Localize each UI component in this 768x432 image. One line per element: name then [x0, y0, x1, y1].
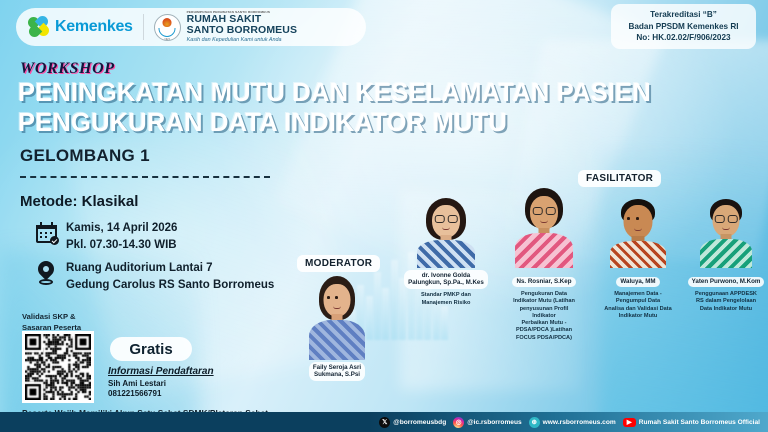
accreditation-line2: Badan PPSDM Kemenkes RI — [615, 21, 752, 33]
dashed-divider — [20, 176, 270, 178]
facilitator-1-topic: Standar PMKP danManajemen Risiko — [398, 292, 494, 307]
kemenkes-label: Kemenkes — [55, 18, 133, 36]
datetime-row: Kamis, 14 April 2026 Pkl. 07.30-14.30 WI… — [36, 220, 177, 253]
instagram-icon: ◎ — [453, 417, 464, 428]
facilitator-badge: FASILITATOR — [578, 170, 661, 187]
person-facilitator-2: Ns. Rosniar, S.Kep Pengukuran DataIndika… — [496, 186, 592, 342]
youtube-channel: Rumah Sakit Santo Borromeus Official — [639, 419, 760, 426]
person-facilitator-1: dr. Ivonne GoldaPalungkun, Sp.Pa., M.Kes… — [398, 196, 494, 307]
footer-x[interactable]: 𝕏 @borromeusbdg — [379, 417, 446, 428]
facilitator-2-topic: Pengukuran DataIndikator Mutu (Latihanpe… — [496, 291, 592, 342]
instagram-handle: @ic.rsborromeus — [467, 419, 521, 426]
hospital-seal-icon: 1921 — [154, 14, 181, 41]
venue-row: Ruang Auditorium Lantai 7 Gedung Carolus… — [36, 260, 274, 293]
qr-caption: Validasi SKP & Sasaran Peserta — [22, 311, 81, 333]
venue-line2: Gedung Carolus RS Santo Borromeus — [66, 277, 274, 294]
logo-bar: Kemenkes 1921 PERHIMPUNAN PERAWATAN SANT… — [16, 8, 366, 46]
facilitator-3-photo — [609, 196, 667, 268]
workshop-kicker: WORKSHOP — [20, 60, 115, 78]
accreditation-line1: Terakreditasi “B” — [615, 9, 752, 21]
facilitator-1-photo — [416, 196, 476, 268]
facilitator-4-photo — [699, 196, 753, 268]
method-label: Metode: Klasikal — [20, 193, 138, 210]
price-badge: Gratis — [110, 337, 192, 361]
facilitator-2-photo — [514, 186, 574, 268]
globe-icon: ⊕ — [529, 417, 540, 428]
facilitator-4-name: Yaten Purwono, M.Kom — [688, 277, 765, 288]
facilitator-4-topic: Penggunaan APPDESKRS dalam PengelolaanDa… — [684, 291, 768, 313]
facilitator-2-name: Ns. Rosniar, S.Kep — [512, 277, 575, 288]
x-icon: 𝕏 — [379, 417, 390, 428]
hospital-logo: 1921 PERHIMPUNAN PERAWATAN SANTO BORROME… — [154, 11, 297, 43]
kemenkes-mark-icon — [28, 16, 50, 38]
contact-phone: 081221566791 — [108, 389, 161, 398]
wave-label: GELOMBANG 1 — [20, 146, 150, 166]
footer-instagram[interactable]: ◎ @ic.rsborromeus — [453, 417, 521, 428]
moderator-name: Faily Seroja AsriSukmana, S.Psi — [309, 362, 365, 381]
event-title-line2: PENGUKURAN DATA INDIKATOR MUTU — [18, 111, 507, 137]
contact-name: Sih Ami Lestari — [108, 379, 166, 388]
event-time: Pkl. 07.30-14.30 WIB — [66, 237, 177, 254]
hospital-name-line2: SANTO BORROMEUS — [187, 25, 297, 36]
footer-youtube[interactable]: ▶ Rumah Sakit Santo Borromeus Official — [623, 418, 760, 427]
moderator-photo — [308, 272, 366, 360]
person-facilitator-4: Yaten Purwono, M.Kom Penggunaan APPDESKR… — [684, 196, 768, 313]
event-date: Kamis, 14 April 2026 — [66, 220, 177, 237]
accreditation-line3: No: HK.02.02/F/906/2023 — [615, 32, 752, 44]
x-handle: @borromeusbdg — [393, 419, 446, 426]
accreditation-box: Terakreditasi “B” Badan PPSDM Kemenkes R… — [611, 4, 756, 49]
facilitator-3-name: Waluya, MM — [616, 277, 659, 288]
seal-year: 1921 — [155, 38, 180, 41]
qr-code[interactable] — [22, 331, 94, 403]
hospital-tagline: Kasih dan Kepedulian Kami untuk Anda — [187, 38, 297, 43]
event-title-line1: PENINGKATAN MUTU DAN KESELAMATAN PASIEN — [18, 81, 651, 107]
calendar-icon — [36, 222, 57, 243]
location-pin-icon — [36, 261, 57, 285]
youtube-icon: ▶ — [623, 418, 636, 427]
poster-root: Kemenkes 1921 PERHIMPUNAN PERAWATAN SANT… — [0, 0, 768, 432]
footer-website[interactable]: ⊕ www.rsborromeus.com — [529, 417, 616, 428]
facilitator-1-name: dr. Ivonne GoldaPalungkun, Sp.Pa., M.Kes — [404, 270, 488, 289]
facilitator-3-topic: Manajemen Data -Pengumpul DataAnalisa da… — [592, 291, 684, 320]
moderator-badge: MODERATOR — [297, 255, 380, 272]
registration-info-title: Informasi Pendaftaran — [108, 366, 214, 377]
website-url: www.rsborromeus.com — [543, 419, 616, 426]
person-moderator: Faily Seroja AsriSukmana, S.Psi — [294, 272, 380, 381]
kemenkes-logo: Kemenkes — [28, 16, 133, 38]
qr-caption-line1: Validasi SKP & — [22, 311, 81, 322]
logo-divider — [143, 14, 144, 40]
footer-bar: 𝕏 @borromeusbdg ◎ @ic.rsborromeus ⊕ www.… — [0, 412, 768, 432]
venue-line1: Ruang Auditorium Lantai 7 — [66, 260, 274, 277]
person-facilitator-3: Waluya, MM Manajemen Data -Pengumpul Dat… — [592, 196, 684, 320]
